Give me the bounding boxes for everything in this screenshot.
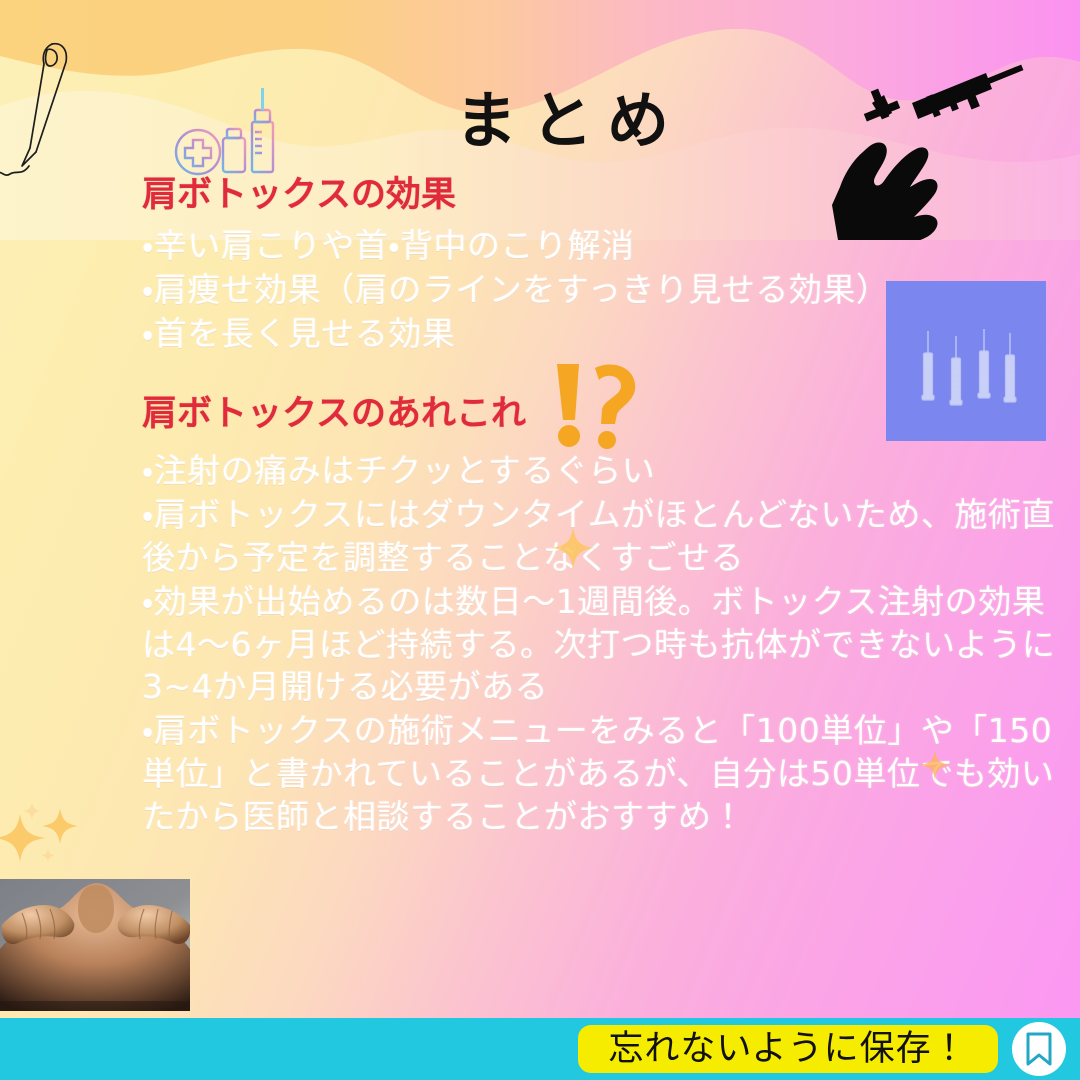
sparkle-icon xyxy=(0,786,110,872)
section-heading-faq: 肩ボトックスのあれこれ xyxy=(142,395,526,434)
save-button[interactable]: 忘れないように保存！ xyxy=(578,1025,998,1073)
bookmark-icon[interactable] xyxy=(1012,1022,1066,1076)
list-item: ・肩ボトックスにはダウンタイムがほとんどないため、施術直後から予定を調整すること… xyxy=(142,494,1062,580)
list-item: ・注射の痛みはチクッとするぐらい xyxy=(142,450,1062,493)
shoulder-massage-photo xyxy=(0,879,190,1011)
page-title: まとめ xyxy=(455,90,683,152)
infographic-canvas: まとめ xyxy=(0,0,1080,1080)
syringe-vial-cross-icon xyxy=(167,86,283,182)
list-item: ・首を長く見せる効果 xyxy=(142,313,1022,356)
sparkle-icon xyxy=(548,523,598,573)
effects-bullet-list: ・辛い肩こりや首・背中のこり解消 ・肩痩せ効果（肩のラインをすっきり見せる効果）… xyxy=(142,225,1022,357)
interrobang-icon xyxy=(545,358,645,458)
bottom-action-bar: 忘れないように保存！ xyxy=(0,1018,1080,1080)
section-heading-effects: 肩ボトックスの効果 xyxy=(142,176,456,215)
list-item: ・肩痩せ効果（肩のラインをすっきり見せる効果） xyxy=(142,269,1022,312)
hand-holding-syringe-icon xyxy=(826,55,1026,240)
sparkle-icon xyxy=(918,748,952,782)
list-item: ・効果が出始めるのは数日〜1週間後。ボトックス注射の効果は4〜6ヶ月ほど持続する… xyxy=(142,581,1062,710)
list-item: ・辛い肩こりや首・背中のこり解消 xyxy=(142,225,1022,268)
